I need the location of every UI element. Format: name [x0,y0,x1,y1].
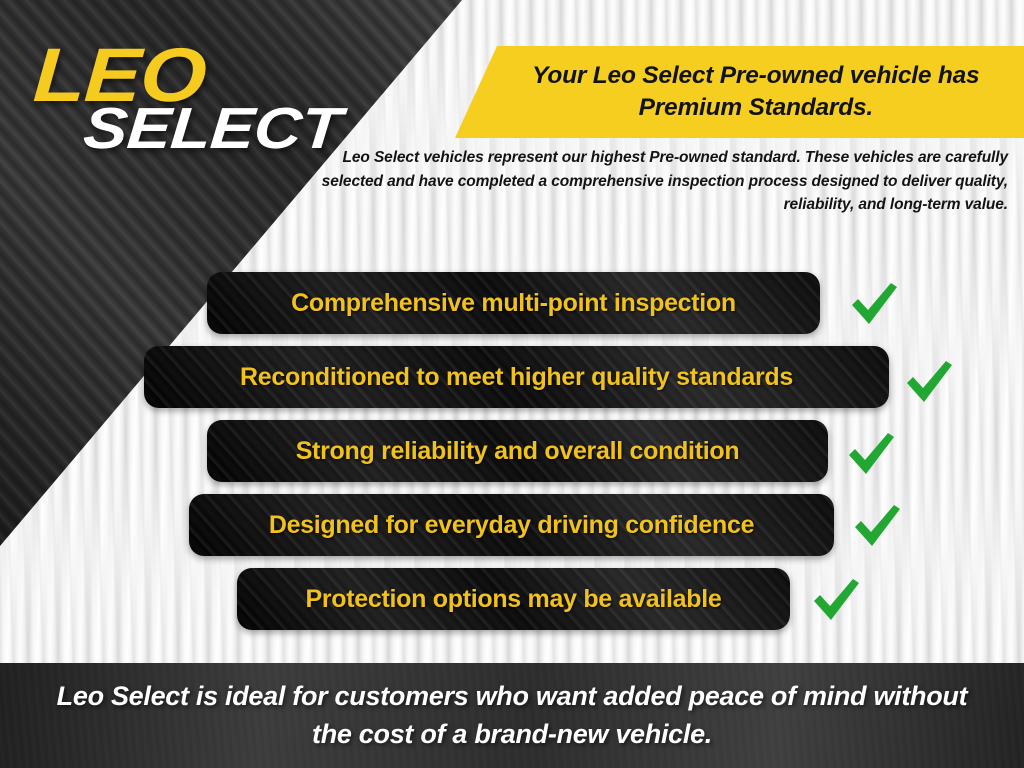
footer-text: Leo Select is ideal for customers who wa… [0,678,1024,753]
check-mark-icon [848,280,900,328]
feature-label: Reconditioned to meet higher quality sta… [218,363,815,392]
feature-row: Designed for everyday driving confidence [0,490,1024,564]
feature-pill: Protection options may be available [237,568,790,630]
feature-pill: Reconditioned to meet higher quality sta… [144,346,889,408]
brand-logo: LEO SELECT [30,38,330,168]
intro-paragraph: Leo Select vehicles represent our highes… [300,146,1008,217]
feature-row: Reconditioned to meet higher quality sta… [0,342,1024,416]
feature-label: Designed for everyday driving confidence [247,511,776,540]
leo-select-promo-poster: LEO SELECT Your Leo Select Pre-owned veh… [0,0,1024,768]
feature-row: Strong reliability and overall condition [0,416,1024,490]
feature-label: Strong reliability and overall condition [274,437,762,466]
feature-label: Protection options may be available [283,585,743,614]
check-mark-icon [810,576,862,624]
feature-list: Comprehensive multi-point inspection Rec… [0,268,1024,638]
feature-pill: Strong reliability and overall condition [207,420,828,482]
feature-pill: Designed for everyday driving confidence [189,494,834,556]
feature-pill: Comprehensive multi-point inspection [207,272,820,334]
feature-row: Protection options may be available [0,564,1024,638]
check-mark-icon [851,502,903,550]
check-mark-icon [903,358,955,406]
feature-label: Comprehensive multi-point inspection [269,289,758,318]
footer-bar: Leo Select is ideal for customers who wa… [0,663,1024,768]
headline-text: Your Leo Select Pre-owned vehicle has Pr… [449,60,1024,125]
check-mark-icon [845,430,897,478]
feature-row: Comprehensive multi-point inspection [0,268,1024,342]
headline-banner: Your Leo Select Pre-owned vehicle has Pr… [455,46,1024,138]
